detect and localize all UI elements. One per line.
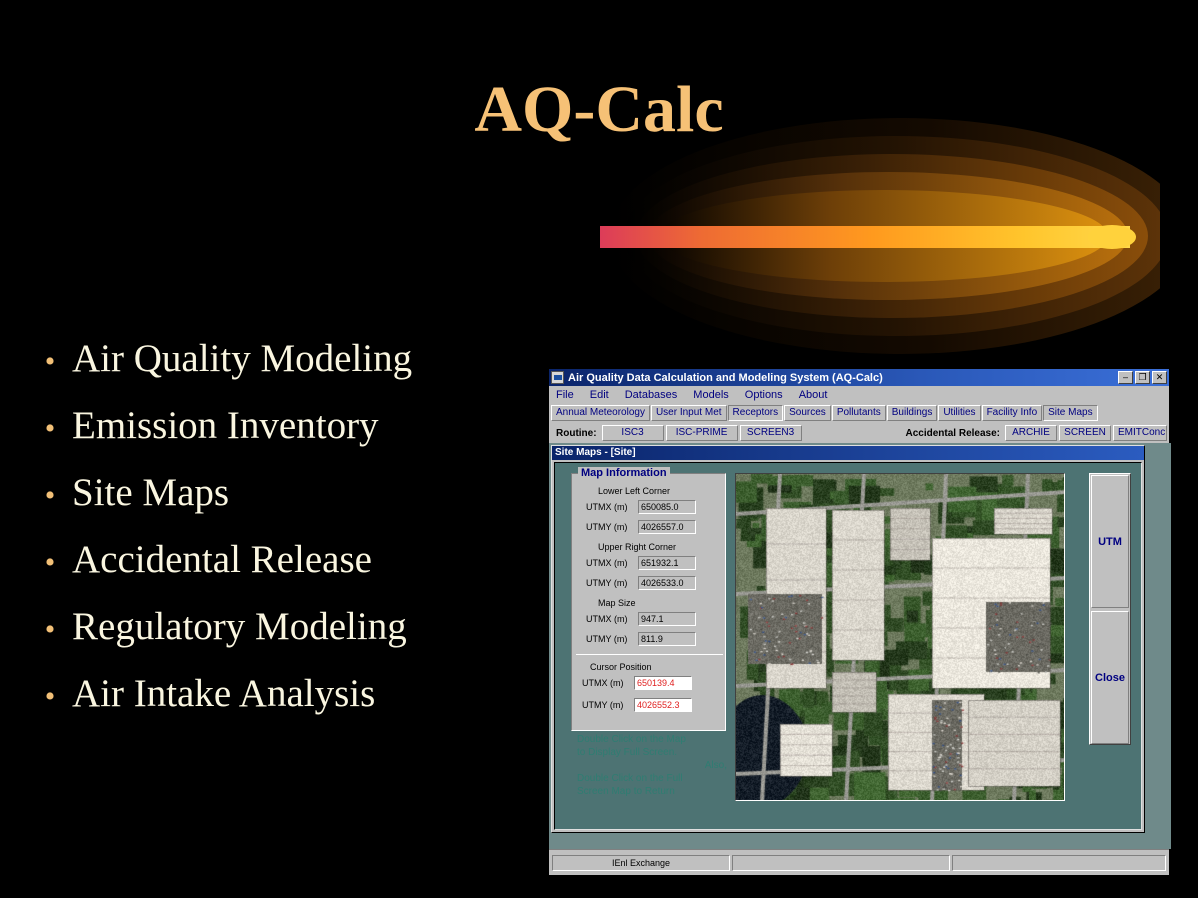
field-value-cursor-utmy[interactable]: 4026552.3 [634,698,692,712]
status-cell-company: IEnl Exchange [552,855,730,871]
field-label-size-utmx: UTMX (m) [586,614,634,624]
window-title: Air Quality Data Calculation and Modelin… [568,372,1118,384]
field-label-ll-utmx: UTMX (m) [586,502,634,512]
toolbar-button-receptors[interactable]: Receptors [728,405,784,421]
list-item: • Air Quality Modeling [28,336,548,403]
status-bar: IEnl Exchange [549,849,1169,875]
toolbar-button-user-input-met[interactable]: User Input Met [651,405,727,421]
map-usage-hint: Double Click on the Map to Display Full … [577,733,727,798]
toolbar-button-buildings[interactable]: Buildings [887,405,938,421]
list-item: • Air Intake Analysis [28,671,548,738]
close-icon[interactable]: ✕ [1152,371,1167,384]
window-titlebar[interactable]: Air Quality Data Calculation and Modelin… [549,369,1169,386]
field-row: UTMY (m) 4026552.3 [582,698,692,712]
menu-item-models[interactable]: Models [690,389,731,401]
bullet-label: Accidental Release [72,537,372,582]
bullet-marker-icon: • [28,481,72,511]
application-window: Air Quality Data Calculation and Modelin… [548,368,1170,876]
hint-line: Double Click on the Full [577,772,727,785]
list-item: • Regulatory Modeling [28,604,548,671]
plume-dispersion-graphic [600,118,1160,354]
field-value-ll-utmy[interactable]: 4026557.0 [638,520,696,534]
field-label-cursor-utmy: UTMY (m) [582,700,630,710]
child-window-title[interactable]: Site Maps - [Site] [552,446,1144,460]
toolbar-button-site-maps[interactable]: Site Maps [1043,405,1097,421]
app-window-icon [551,371,564,384]
list-item: • Emission Inventory [28,403,548,470]
bullet-label: Air Quality Modeling [72,336,412,381]
routine-button-isc3[interactable]: ISC3 [602,425,664,441]
toolbar-secondary: Routine: ISC3 ISC-PRIME SCREEN3 Accident… [549,423,1169,445]
field-value-ur-utmx[interactable]: 651932.1 [638,556,696,570]
toolbar-primary: Annual Meteorology User Input Met Recept… [549,403,1169,423]
toolbar-button-annual-meteorology[interactable]: Annual Meteorology [551,405,650,421]
field-row: UTMX (m) 651932.1 [586,556,696,570]
divider [576,654,723,655]
minimize-icon[interactable]: – [1118,371,1133,384]
status-cell-tertiary [952,855,1166,871]
section-heading-cursor-position: Cursor Position [590,662,652,672]
bullet-list: • Air Quality Modeling • Emission Invent… [28,336,548,738]
field-label-ll-utmy: UTMY (m) [586,522,634,532]
bullet-marker-icon: • [28,548,72,578]
toolbar-button-pollutants[interactable]: Pollutants [832,405,886,421]
routine-label: Routine: [553,428,600,439]
mdi-client-area: Site Maps - [Site] Map Information Lower… [549,443,1171,849]
accidental-button-emit-conc[interactable]: EMITConc [1113,425,1167,441]
field-value-ur-utmy[interactable]: 4026533.0 [638,576,696,590]
bullet-marker-icon: • [28,682,72,712]
toolbar-button-sources[interactable]: Sources [784,405,831,421]
field-label-ur-utmy: UTMY (m) [586,578,634,588]
map-information-group: Map Information Lower Left Corner UTMX (… [571,473,726,731]
field-row: UTMY (m) 4026533.0 [586,576,696,590]
routine-button-screen3[interactable]: SCREEN3 [740,425,802,441]
section-heading-map-size: Map Size [598,598,636,608]
bullet-marker-icon: • [28,347,72,377]
accidental-release-label: Accidental Release: [903,428,1004,439]
field-label-ur-utmx: UTMX (m) [586,558,634,568]
status-cell-secondary [732,855,950,871]
list-item: • Accidental Release [28,537,548,604]
field-row: UTMY (m) 4026557.0 [586,520,696,534]
toolbar-button-utilities[interactable]: Utilities [938,405,980,421]
field-label-size-utmy: UTMY (m) [586,634,634,644]
bullet-label: Emission Inventory [72,403,379,448]
field-value-cursor-utmx[interactable]: 650139.4 [634,676,692,690]
menu-item-file[interactable]: File [553,389,577,401]
map-side-button-panel: UTM Close [1089,473,1131,745]
accidental-button-archie[interactable]: ARCHIE [1005,425,1057,441]
field-row: UTMX (m) 947.1 [586,612,696,626]
site-maps-child-window: Site Maps - [Site] Map Information Lower… [551,445,1145,833]
field-label-cursor-utmx: UTMX (m) [582,678,630,688]
close-button[interactable]: Close [1091,611,1129,744]
accidental-button-screen[interactable]: SCREEN [1059,425,1111,441]
section-heading-lower-left: Lower Left Corner [598,486,670,496]
section-heading-upper-right: Upper Right Corner [598,542,676,552]
field-row: UTMY (m) 811.9 [586,632,696,646]
bullet-marker-icon: • [28,414,72,444]
bullet-marker-icon: • [28,615,72,645]
menu-item-options[interactable]: Options [742,389,786,401]
utm-button[interactable]: UTM [1091,475,1129,608]
hint-line: Also, [577,759,727,772]
menu-bar: File Edit Databases Models Options About [549,386,1169,403]
menu-item-about[interactable]: About [796,389,831,401]
toolbar-button-facility-info[interactable]: Facility Info [982,405,1043,421]
menu-item-databases[interactable]: Databases [622,389,681,401]
list-item: • Site Maps [28,470,548,537]
menu-item-edit[interactable]: Edit [587,389,612,401]
aerial-site-photo[interactable] [735,473,1065,801]
hint-line: Double Click on the Map [577,733,727,746]
child-window-body: Map Information Lower Left Corner UTMX (… [554,462,1142,830]
bullet-label: Air Intake Analysis [72,671,375,716]
field-row: UTMX (m) 650085.0 [586,500,696,514]
field-value-size-utmy[interactable]: 811.9 [638,632,696,646]
aerial-map-canvas[interactable] [736,474,1065,801]
map-information-title: Map Information [578,467,670,479]
field-row: UTMX (m) 650139.4 [582,676,692,690]
bullet-label: Regulatory Modeling [72,604,407,649]
page-title: AQ-Calc [0,72,1198,148]
field-value-size-utmx[interactable]: 947.1 [638,612,696,626]
bullet-label: Site Maps [72,470,229,515]
hint-line: Screen Map to Return [577,785,727,798]
routine-button-isc-prime[interactable]: ISC-PRIME [666,425,738,441]
hint-line: to Display Full Screen. [577,746,727,759]
field-value-ll-utmx[interactable]: 650085.0 [638,500,696,514]
restore-icon[interactable]: ❐ [1135,371,1150,384]
